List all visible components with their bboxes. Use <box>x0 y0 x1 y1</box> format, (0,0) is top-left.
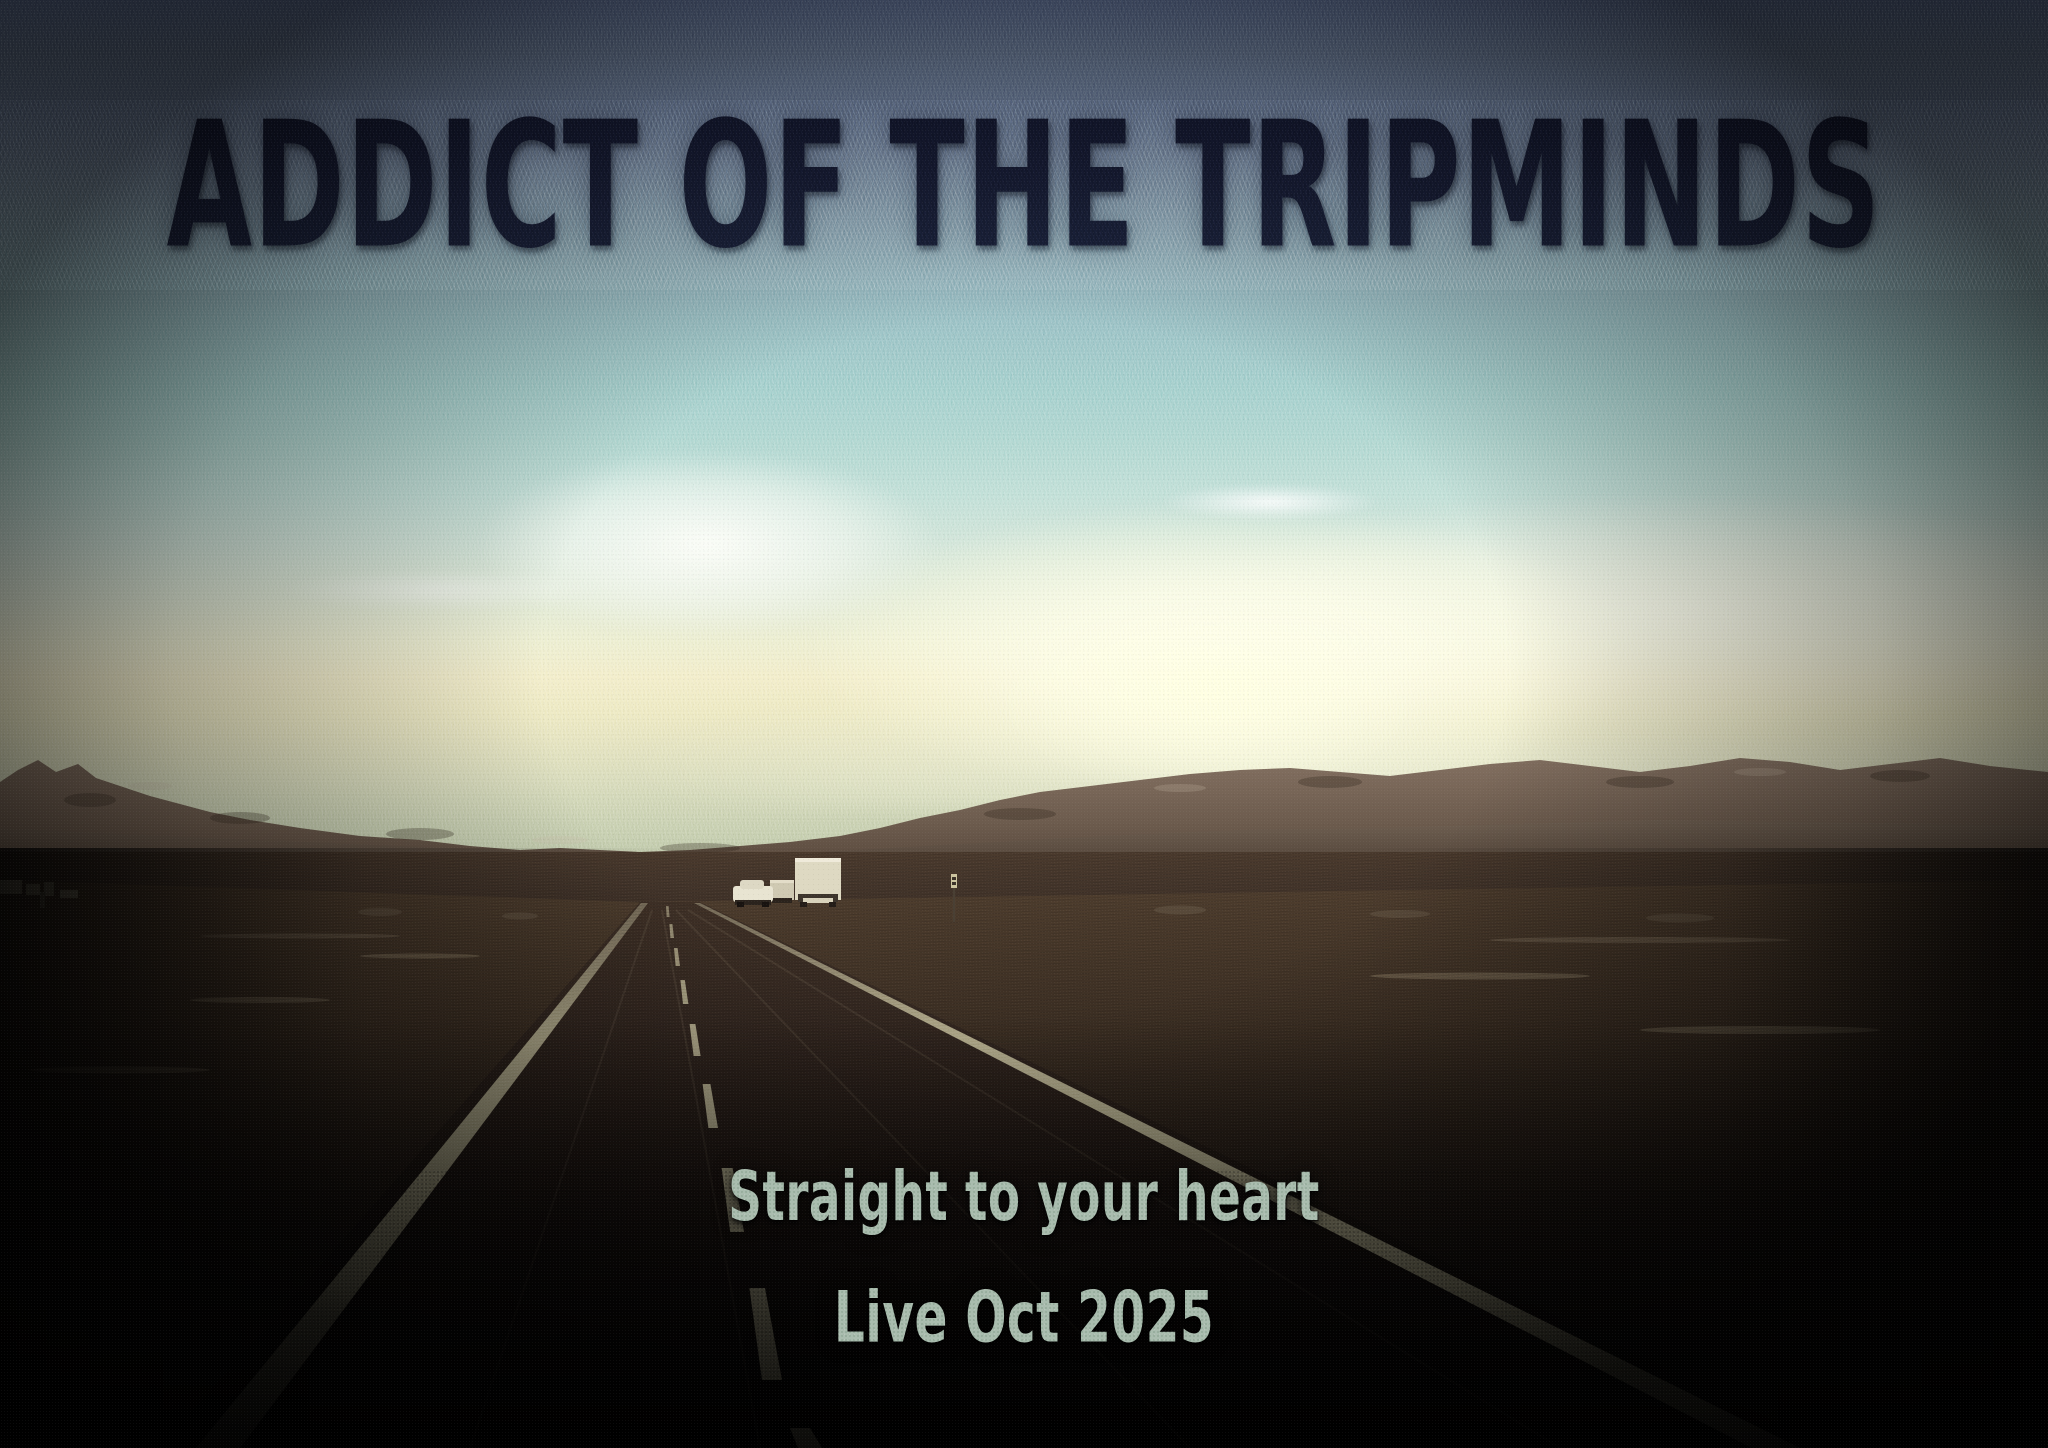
poster-canvas: ADDICT OF THE TRIPMINDS Straight to your… <box>0 0 2048 1448</box>
second-truck <box>770 880 794 903</box>
distant-scrub <box>358 906 1714 923</box>
poster-title: ADDICT OF THE TRIPMINDS <box>41 100 2007 274</box>
semi-truck <box>795 858 841 907</box>
left-roadside-structures <box>0 880 78 908</box>
vehicles-group <box>0 840 2048 930</box>
poster-tagline: Straight to your heart <box>72 1164 1977 1232</box>
poster-date: Live Oct 2025 <box>72 1282 1977 1353</box>
tagline-block: Straight to your heart Live Oct 2025 <box>0 1170 2048 1346</box>
ground-texture-overlay <box>0 852 2048 1448</box>
white-car <box>733 880 773 907</box>
roadside-marker-post <box>951 874 957 922</box>
